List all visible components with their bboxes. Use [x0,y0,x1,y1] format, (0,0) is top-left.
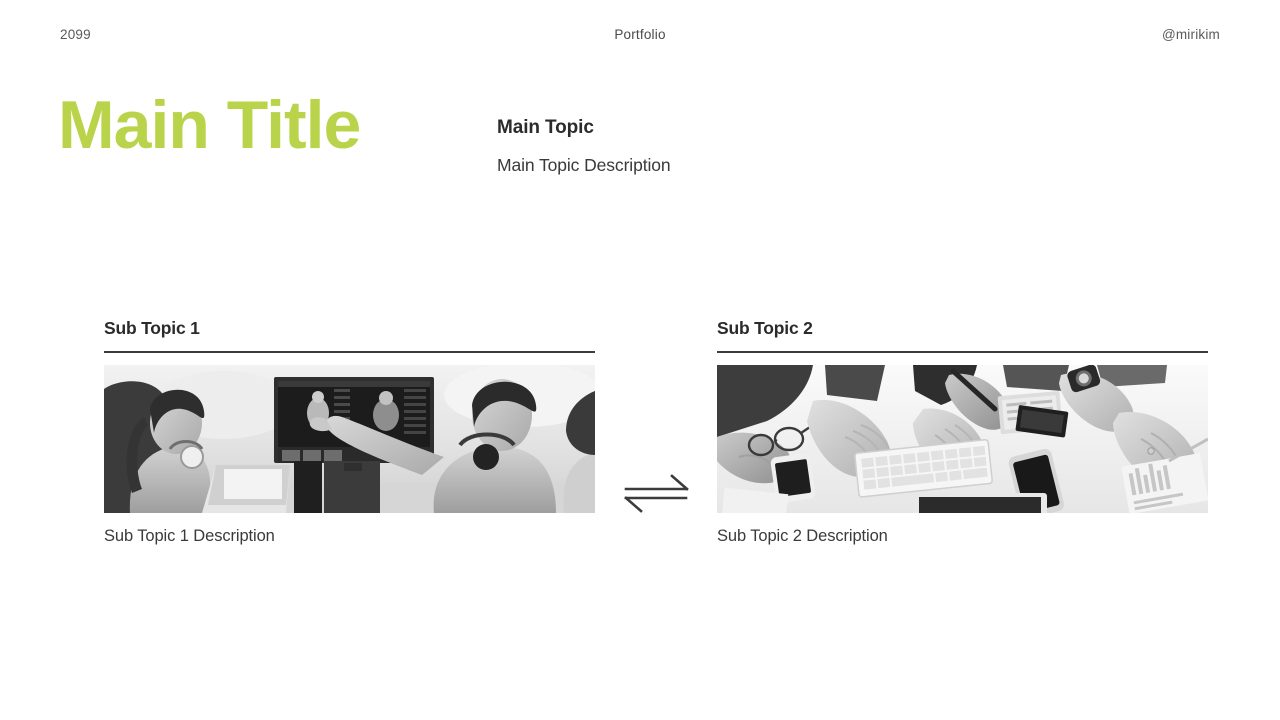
presentation-slide: 2099 Portfolio @mirikim Main Title Main … [0,0,1280,720]
sub-topic-1-image [104,365,595,513]
sub-topic-1-divider [104,351,595,353]
main-topic-heading: Main Topic [497,115,1017,142]
exchange-arrows-icon [622,470,692,516]
sub-topic-2-description: Sub Topic 2 Description [717,527,1208,546]
slide-header: 2099 Portfolio @mirikim [0,24,1280,44]
team-reviewing-photos-on-monitor-illustration [104,365,595,513]
main-topic-block: Main Topic Main Topic Description [497,115,1017,177]
sub-topic-2-divider [717,351,1208,353]
sub-topic-1-column: Sub Topic 1 [104,318,595,546]
sub-topic-2-heading: Sub Topic 2 [717,318,1208,351]
sub-topic-2-image [717,365,1208,513]
header-title: Portfolio [0,27,1280,42]
sub-topic-1-description: Sub Topic 1 Description [104,527,595,546]
header-handle: @mirikim [1162,27,1220,42]
sub-topic-2-column: Sub Topic 2 [717,318,1208,546]
sub-topic-1-heading: Sub Topic 1 [104,318,595,351]
overhead-hands-on-desk-illustration [717,365,1208,513]
page-title: Main Title [58,90,360,161]
comparison-section: Sub Topic 1 [0,318,1280,568]
main-topic-description: Main Topic Description [497,153,1017,178]
